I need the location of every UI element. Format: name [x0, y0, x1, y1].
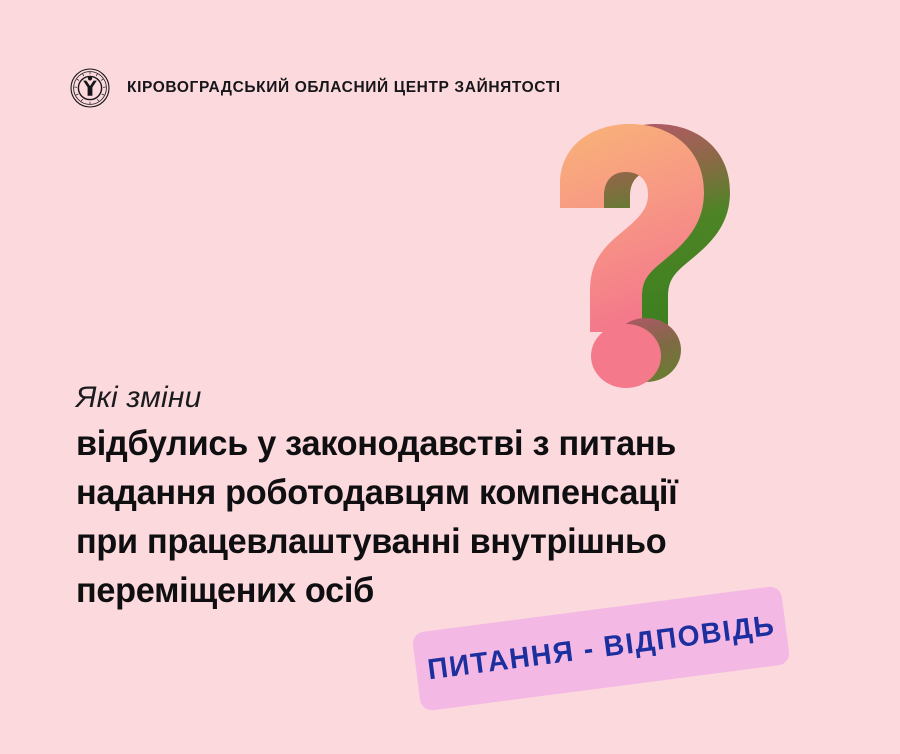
headline-line-3: при працевлаштуванні внутрішньо [76, 517, 848, 566]
headline-line-2: надання роботодавцям компенсації [76, 468, 848, 517]
question-mark-3d-icon [536, 122, 746, 390]
headline-line-1: відбулись у законодавстві з питань [76, 419, 848, 468]
employment-center-seal-icon [70, 68, 110, 108]
organization-name: КІРОВОГРАДСЬКИЙ ОБЛАСНИЙ ЦЕНТР ЗАЙНЯТОСТ… [127, 80, 561, 96]
social-card-canvas: КІРОВОГРАДСЬКИЙ ОБЛАСНИЙ ЦЕНТР ЗАЙНЯТОСТ… [0, 0, 900, 754]
brand-header: КІРОВОГРАДСЬКИЙ ОБЛАСНИЙ ЦЕНТР ЗАЙНЯТОСТ… [70, 68, 561, 108]
headline-block: Які зміни відбулись у законодавстві з пи… [76, 380, 876, 615]
headline-eyebrow: Які зміни [76, 380, 876, 415]
qa-badge-label: ПИТАННЯ - ВІДПОВІДЬ [425, 610, 776, 688]
